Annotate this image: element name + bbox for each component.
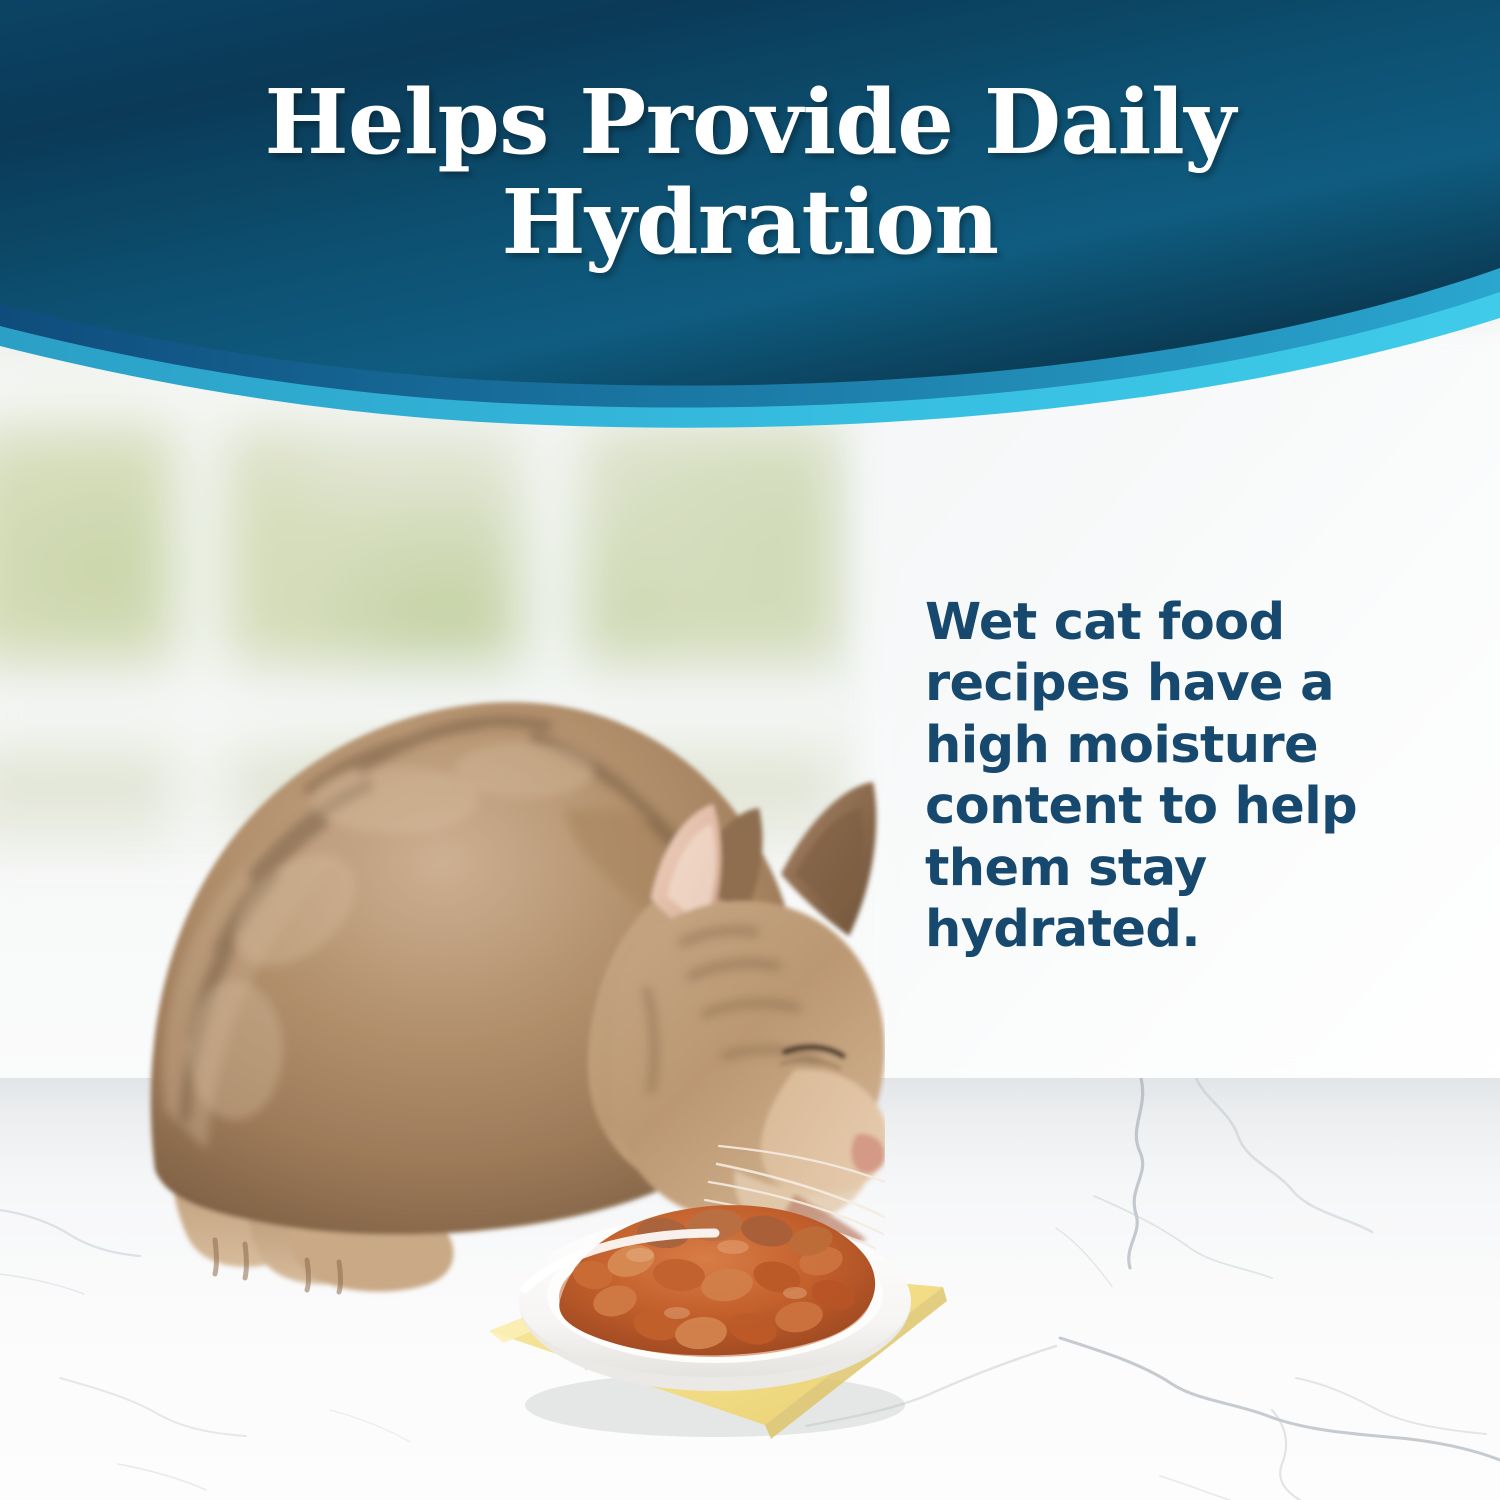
poster-root: Helps Provide Daily Hydration Wet cat fo…: [0, 0, 1500, 1500]
page-title: Helps Provide Daily Hydration: [0, 72, 1500, 271]
body-copy-text: Wet cat food recipes have a high moistur…: [925, 592, 1395, 961]
bowl-food-napkin: [465, 1155, 965, 1445]
